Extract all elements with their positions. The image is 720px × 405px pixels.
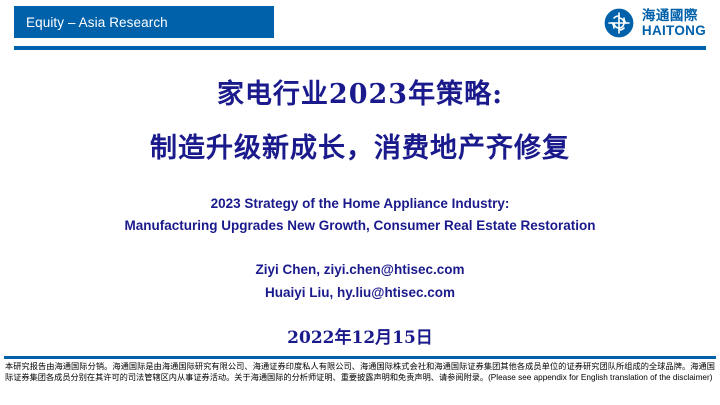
logo-text-cn: 海通國際 — [642, 9, 706, 23]
subtitle-english-line1: 2023 Strategy of the Home Appliance Indu… — [0, 196, 720, 211]
haitong-circular-emblem-icon — [603, 7, 635, 39]
disclaimer-text: 本研究报告由海通国际分销。海通国际是由海通国际研究有限公司、海通证券印度私人有限… — [5, 361, 715, 383]
header-divider-rule — [14, 46, 706, 50]
publication-date: 2022年12月15日 — [0, 323, 720, 348]
logo-wordmark: 海通國際 HAITONG — [642, 9, 706, 38]
subtitle-english-line2: Manufacturing Upgrades New Growth, Consu… — [0, 218, 720, 233]
author-contact-2: Huaiyi Liu, hy.liu@htisec.com — [0, 285, 720, 300]
presentation-cover-slide: Equity – Asia Research 海通國際 HAITONG 家电行业… — [0, 0, 720, 405]
title-chinese-line2: 制造升级新成长，消费地产齐修复 — [0, 126, 720, 165]
footer-divider-rule — [4, 356, 716, 359]
header-banner-label: Equity – Asia Research — [14, 15, 168, 30]
haitong-logo: 海通國際 HAITONG — [603, 6, 706, 40]
logo-text-en: HAITONG — [642, 24, 706, 38]
author-contact-1: Ziyi Chen, ziyi.chen@htisec.com — [0, 262, 720, 277]
title-chinese-line1: 家电行业2023年策略: — [0, 72, 720, 111]
header-banner: Equity – Asia Research — [14, 6, 274, 38]
disclaimer-english-note: (Please see appendix for English transla… — [488, 373, 712, 382]
